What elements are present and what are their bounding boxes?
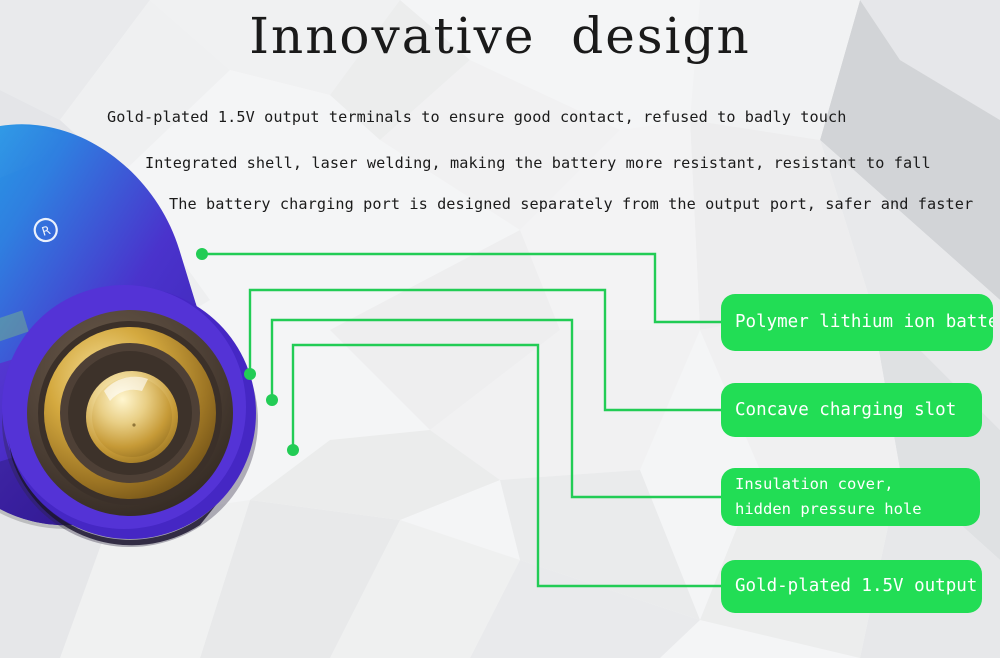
feature-line-1: Gold-plated 1.5V output terminals to ens…: [107, 108, 847, 126]
callout-line: Gold-plated 1.5V output: [735, 573, 982, 600]
callout-line: Polymer lithium ion batteries: [735, 309, 993, 336]
callout-line: Insulation cover,: [735, 472, 980, 497]
callout-line: Concave charging slot: [735, 397, 982, 424]
callout-concave-charging-slot[interactable]: Concave charging slot: [721, 383, 982, 437]
battery-product-image: ENTLI R 绿色环保充电电池 AA/PH5: [0, 108, 312, 578]
callout-line: hidden pressure hole: [735, 497, 980, 522]
callout-gold-plated-output[interactable]: Gold-plated 1.5V output: [721, 560, 982, 613]
feature-line-3: The battery charging port is designed se…: [169, 195, 973, 213]
infographic-canvas: ENTLI R 绿色环保充电电池 AA/PH5: [0, 0, 1000, 658]
callout-polymer-lithium-ion-batteries[interactable]: Polymer lithium ion batteries: [721, 294, 993, 351]
callout-insulation-cover[interactable]: Insulation cover, hidden pressure hole: [721, 468, 980, 526]
page-title: Innovative design: [0, 4, 1000, 68]
feature-line-2: Integrated shell, laser welding, making …: [145, 154, 931, 172]
